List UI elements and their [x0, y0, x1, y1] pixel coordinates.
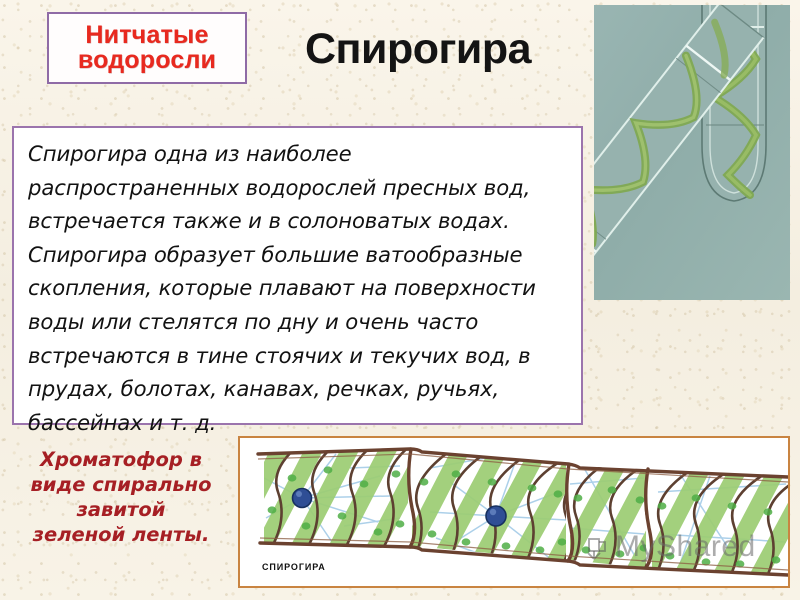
description-text: Спирогира одна из наиболее распространен… [28, 137, 569, 439]
topic-badge: Нитчатые водоросли [47, 12, 247, 84]
caption-line1: Хроматофор в [14, 447, 228, 472]
topic-badge-line2: водоросли [78, 48, 216, 74]
microscope-photo-graphic [594, 5, 790, 300]
spirogyra-diagram: СПИРОГИРА MyShared [238, 436, 790, 588]
page-title: Спирогира [305, 25, 531, 74]
microscope-photo [594, 5, 790, 300]
caption-line3: завитой [14, 497, 228, 522]
topic-badge-line1: Нитчатые [85, 23, 208, 49]
diagram-label: СПИРОГИРА [262, 562, 326, 572]
slide-canvas: Нитчатые водоросли Спирогира [0, 0, 800, 600]
caption-line4: зеленой ленты. [14, 522, 228, 547]
chromatophore-caption: Хроматофор в виде спирально завитой зеле… [14, 447, 228, 547]
caption-line2: виде спирально [14, 472, 228, 497]
description-text-box: Спирогира одна из наиболее распространен… [12, 126, 583, 425]
